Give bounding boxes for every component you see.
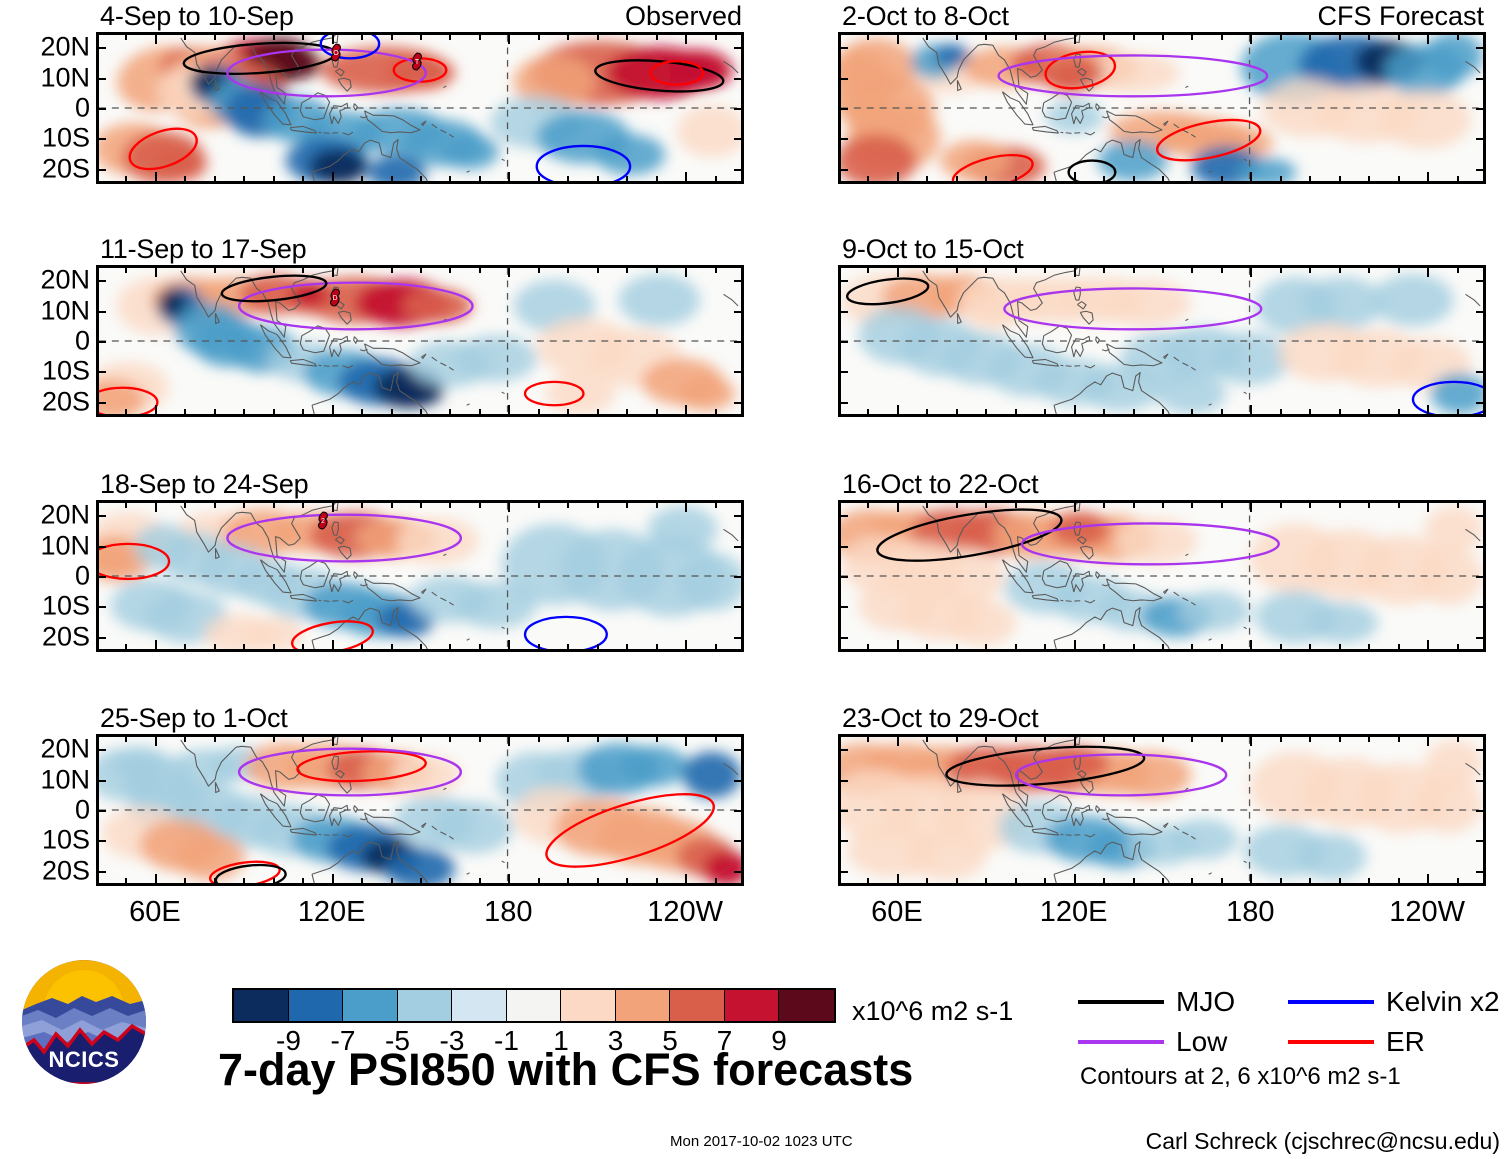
axis-tick bbox=[838, 311, 848, 313]
axis-tick bbox=[184, 734, 186, 742]
map-panel-6: 16-Oct to 22-Oct bbox=[838, 500, 1486, 652]
axis-tick bbox=[243, 644, 245, 652]
axis-tick bbox=[155, 405, 157, 417]
axis-tick bbox=[1427, 265, 1429, 277]
axis-tick bbox=[734, 108, 744, 110]
axis-tick bbox=[361, 644, 363, 652]
axis-tick bbox=[1191, 176, 1193, 184]
y-tick-label: 20S bbox=[42, 857, 90, 884]
legend-line-swatch bbox=[1078, 1040, 1164, 1044]
axis-tick bbox=[838, 606, 848, 608]
axis-tick bbox=[361, 32, 363, 40]
axis-tick bbox=[538, 644, 540, 652]
y-tick-label: 10N bbox=[40, 766, 90, 793]
axis-tick bbox=[479, 644, 481, 652]
axis-tick bbox=[449, 176, 451, 184]
axis-tick bbox=[597, 878, 599, 886]
axis-tick bbox=[597, 409, 599, 417]
axis-tick bbox=[1309, 878, 1311, 886]
axis-tick bbox=[838, 47, 848, 49]
axis-tick bbox=[838, 637, 848, 639]
axis-tick bbox=[1280, 878, 1282, 886]
axis-tick bbox=[926, 265, 928, 273]
axis-tick bbox=[897, 32, 899, 44]
axis-tick bbox=[1476, 871, 1486, 873]
axis-tick bbox=[479, 734, 481, 742]
axis-tick bbox=[243, 409, 245, 417]
axis-tick bbox=[1074, 734, 1076, 746]
y-tick-label: 10N bbox=[40, 64, 90, 91]
contour-legend-note: Contours at 2, 6 x10^6 m2 s-1 bbox=[1080, 1063, 1401, 1091]
axis-tick bbox=[1280, 500, 1282, 508]
colorbar-swatch bbox=[289, 990, 344, 1021]
axis-tick bbox=[838, 515, 848, 517]
axis-tick bbox=[1250, 640, 1252, 652]
axis-tick bbox=[715, 878, 717, 886]
axis-tick bbox=[214, 644, 216, 652]
axis-tick bbox=[685, 32, 687, 44]
colorbar-swatch bbox=[343, 990, 398, 1021]
axis-tick bbox=[1398, 878, 1400, 886]
axis-tick bbox=[626, 32, 628, 40]
colorbar-swatch bbox=[670, 990, 725, 1021]
axis-tick bbox=[125, 265, 127, 273]
axis-tick bbox=[391, 878, 393, 886]
axis-tick bbox=[1133, 644, 1135, 652]
colorbar-swatch bbox=[398, 990, 453, 1021]
axis-tick bbox=[1427, 172, 1429, 184]
axis-tick bbox=[1044, 644, 1046, 652]
axis-tick bbox=[1103, 176, 1105, 184]
axis-tick bbox=[567, 878, 569, 886]
axis-tick bbox=[1133, 176, 1135, 184]
axis-tick bbox=[1162, 409, 1164, 417]
axis-tick bbox=[1191, 500, 1193, 508]
axis-tick bbox=[1074, 172, 1076, 184]
axis-tick bbox=[96, 108, 106, 110]
axis-tick bbox=[1339, 644, 1341, 652]
axis-tick bbox=[1476, 637, 1486, 639]
axis-tick bbox=[734, 280, 744, 282]
y-tick-label: 10S bbox=[42, 827, 90, 854]
axis-tick bbox=[96, 311, 106, 313]
axis-tick bbox=[273, 265, 275, 273]
axis-tick bbox=[926, 644, 928, 652]
axis-tick bbox=[1250, 874, 1252, 886]
axis-tick bbox=[838, 108, 848, 110]
axis-tick bbox=[1457, 500, 1459, 508]
axis-tick bbox=[302, 500, 304, 508]
axis-tick bbox=[567, 644, 569, 652]
axis-tick bbox=[332, 172, 334, 184]
axis-tick bbox=[1309, 265, 1311, 273]
axis-tick bbox=[1221, 734, 1223, 742]
axis-tick bbox=[1044, 500, 1046, 508]
axis-tick bbox=[302, 409, 304, 417]
axis-tick bbox=[1015, 409, 1017, 417]
axis-tick bbox=[508, 500, 510, 512]
axis-tick bbox=[243, 176, 245, 184]
axis-tick bbox=[1191, 409, 1193, 417]
svg-text:2: 2 bbox=[321, 518, 325, 525]
axis-tick bbox=[96, 840, 106, 842]
axis-tick bbox=[449, 644, 451, 652]
axis-tick bbox=[214, 878, 216, 886]
axis-tick bbox=[508, 734, 510, 746]
axis-tick bbox=[926, 500, 928, 508]
axis-tick bbox=[897, 500, 899, 512]
axis-tick bbox=[838, 840, 848, 842]
axis-tick bbox=[96, 780, 106, 782]
axis-tick bbox=[1250, 32, 1252, 44]
legend-item-kelvin-x2: Kelvin x2 bbox=[1288, 987, 1498, 1017]
axis-tick bbox=[734, 810, 744, 812]
axis-tick bbox=[1133, 500, 1135, 508]
axis-tick bbox=[1191, 644, 1193, 652]
map-panel-3: 11-Sep to 17-SepD20N10N010S20S bbox=[96, 265, 744, 417]
axis-tick bbox=[956, 878, 958, 886]
axis-tick bbox=[1044, 265, 1046, 273]
contour-legend: MJOKelvin x2LowER bbox=[1078, 982, 1498, 1062]
axis-tick bbox=[567, 176, 569, 184]
axis-tick bbox=[1250, 734, 1252, 746]
axis-tick bbox=[1427, 640, 1429, 652]
axis-tick bbox=[125, 500, 127, 508]
axis-tick bbox=[420, 644, 422, 652]
axis-tick bbox=[1162, 265, 1164, 273]
axis-tick bbox=[1457, 878, 1459, 886]
tropical-cyclone-marker: O bbox=[328, 43, 344, 63]
axis-tick bbox=[273, 32, 275, 40]
svg-text:T: T bbox=[415, 59, 420, 66]
axis-tick bbox=[1368, 734, 1370, 742]
axis-tick bbox=[926, 409, 928, 417]
axis-tick bbox=[1457, 176, 1459, 184]
panel-title: 9-Oct to 15-Oct bbox=[842, 235, 1024, 263]
anomaly-shading bbox=[99, 743, 741, 883]
axis-tick bbox=[956, 500, 958, 508]
axis-tick bbox=[1476, 402, 1486, 404]
axis-tick bbox=[715, 32, 717, 40]
ncics-logo-graphic: NCICS bbox=[22, 960, 146, 1084]
axis-tick bbox=[867, 176, 869, 184]
axis-tick bbox=[1162, 176, 1164, 184]
axis-tick bbox=[838, 138, 848, 140]
axis-tick bbox=[420, 878, 422, 886]
axis-tick bbox=[715, 176, 717, 184]
axis-tick bbox=[626, 409, 628, 417]
legend-row: LowER bbox=[1078, 1022, 1498, 1062]
axis-tick bbox=[302, 878, 304, 886]
axis-tick bbox=[1427, 405, 1429, 417]
axis-tick bbox=[1339, 32, 1341, 40]
axis-tick bbox=[96, 546, 106, 548]
axis-tick bbox=[1250, 500, 1252, 512]
axis-tick bbox=[838, 402, 848, 404]
axis-tick bbox=[626, 734, 628, 742]
axis-tick bbox=[1044, 734, 1046, 742]
axis-tick bbox=[243, 878, 245, 886]
axis-tick bbox=[1074, 405, 1076, 417]
axis-tick bbox=[1044, 409, 1046, 417]
axis-tick bbox=[656, 265, 658, 273]
axis-tick bbox=[897, 640, 899, 652]
legend-line-swatch bbox=[1288, 1000, 1374, 1004]
map-area: D bbox=[96, 265, 744, 417]
axis-tick bbox=[985, 176, 987, 184]
axis-tick bbox=[273, 500, 275, 508]
axis-tick bbox=[734, 576, 744, 578]
axis-tick bbox=[1476, 515, 1486, 517]
axis-tick bbox=[214, 32, 216, 40]
axis-tick bbox=[420, 734, 422, 742]
axis-tick bbox=[332, 405, 334, 417]
axis-tick bbox=[926, 176, 928, 184]
axis-tick bbox=[715, 644, 717, 652]
y-tick-label: 0 bbox=[75, 328, 90, 355]
y-tick-label: 0 bbox=[75, 797, 90, 824]
axis-tick bbox=[734, 402, 744, 404]
axis-tick bbox=[838, 78, 848, 80]
axis-tick bbox=[897, 172, 899, 184]
axis-tick bbox=[734, 515, 744, 517]
axis-tick bbox=[1368, 32, 1370, 40]
axis-tick bbox=[214, 176, 216, 184]
map-panel-4: 9-Oct to 15-Oct bbox=[838, 265, 1486, 417]
ncics-logo: NCICS ncics.org/mjo bbox=[22, 960, 146, 1084]
axis-tick bbox=[1044, 32, 1046, 40]
axis-tick bbox=[214, 409, 216, 417]
axis-tick bbox=[838, 280, 848, 282]
axis-tick bbox=[656, 878, 658, 886]
axis-tick bbox=[155, 640, 157, 652]
axis-tick bbox=[214, 265, 216, 273]
axis-tick bbox=[656, 734, 658, 742]
axis-tick bbox=[332, 734, 334, 746]
axis-tick bbox=[1368, 878, 1370, 886]
axis-tick bbox=[567, 32, 569, 40]
colorbar-swatches bbox=[232, 988, 836, 1023]
axis-tick bbox=[243, 265, 245, 273]
axis-tick bbox=[125, 409, 127, 417]
axis-tick bbox=[273, 409, 275, 417]
axis-tick bbox=[715, 409, 717, 417]
axis-tick bbox=[897, 405, 899, 417]
axis-tick bbox=[1398, 734, 1400, 742]
colorbar-units-label: x10^6 m2 s-1 bbox=[852, 996, 1013, 1027]
axis-tick bbox=[1339, 500, 1341, 508]
axis-tick bbox=[734, 169, 744, 171]
axis-tick bbox=[1398, 32, 1400, 40]
axis-tick bbox=[926, 878, 928, 886]
axis-tick bbox=[1074, 640, 1076, 652]
tropical-cyclone-marker: D bbox=[327, 288, 343, 308]
map-panel-8: 23-Oct to 29-Oct60E120E180120W bbox=[838, 734, 1486, 886]
axis-tick bbox=[656, 176, 658, 184]
axis-tick bbox=[449, 265, 451, 273]
axis-tick bbox=[538, 500, 540, 508]
axis-tick bbox=[1191, 265, 1193, 273]
legend-item-mjo: MJO bbox=[1078, 987, 1288, 1017]
axis-tick bbox=[1309, 734, 1311, 742]
axis-tick bbox=[1103, 878, 1105, 886]
axis-tick bbox=[479, 409, 481, 417]
axis-tick bbox=[125, 32, 127, 40]
axis-tick bbox=[273, 734, 275, 742]
axis-tick bbox=[538, 409, 540, 417]
colorbar-swatch bbox=[561, 990, 616, 1021]
axis-tick bbox=[567, 409, 569, 417]
axis-tick bbox=[715, 265, 717, 273]
axis-tick bbox=[626, 644, 628, 652]
colorbar-swatch bbox=[725, 990, 780, 1021]
axis-tick bbox=[96, 810, 106, 812]
axis-tick bbox=[1191, 32, 1193, 40]
axis-tick bbox=[956, 176, 958, 184]
axis-tick bbox=[243, 734, 245, 742]
axis-tick bbox=[1476, 371, 1486, 373]
panel-title: 18-Sep to 24-Sep bbox=[100, 470, 308, 498]
y-axis-labels: 20N10N010S20S bbox=[0, 32, 90, 184]
axis-tick bbox=[838, 780, 848, 782]
axis-tick bbox=[273, 878, 275, 886]
colorbar-swatch bbox=[234, 990, 289, 1021]
axis-tick bbox=[838, 341, 848, 343]
axis-tick bbox=[391, 409, 393, 417]
axis-tick bbox=[867, 265, 869, 273]
axis-tick bbox=[1427, 734, 1429, 746]
axis-tick bbox=[734, 78, 744, 80]
y-tick-label: 0 bbox=[75, 95, 90, 122]
axis-tick bbox=[1221, 500, 1223, 508]
axis-tick bbox=[1476, 47, 1486, 49]
axis-tick bbox=[184, 500, 186, 508]
axis-tick bbox=[361, 409, 363, 417]
axis-tick bbox=[867, 500, 869, 508]
axis-tick bbox=[1398, 265, 1400, 273]
axis-tick bbox=[597, 32, 599, 40]
axis-tick bbox=[508, 405, 510, 417]
axis-tick bbox=[897, 874, 899, 886]
legend-item-low: Low bbox=[1078, 1027, 1288, 1057]
axis-tick bbox=[1309, 176, 1311, 184]
axis-tick bbox=[1476, 576, 1486, 578]
axis-tick bbox=[1427, 500, 1429, 512]
axis-tick bbox=[1476, 311, 1486, 313]
axis-tick bbox=[391, 644, 393, 652]
y-tick-label: 10S bbox=[42, 125, 90, 152]
axis-tick bbox=[1015, 265, 1017, 273]
axis-tick bbox=[626, 265, 628, 273]
axis-tick bbox=[1339, 878, 1341, 886]
axis-tick bbox=[1398, 176, 1400, 184]
legend-row: MJOKelvin x2 bbox=[1078, 982, 1498, 1022]
axis-tick bbox=[1074, 32, 1076, 44]
axis-tick bbox=[96, 169, 106, 171]
legend-line-swatch bbox=[1288, 1040, 1374, 1044]
axis-tick bbox=[1280, 265, 1282, 273]
axis-tick bbox=[96, 371, 106, 373]
axis-tick bbox=[302, 644, 304, 652]
y-tick-label: 0 bbox=[75, 563, 90, 590]
axis-tick bbox=[597, 265, 599, 273]
axis-tick bbox=[897, 734, 899, 746]
map-area: OT bbox=[96, 32, 744, 184]
axis-tick bbox=[391, 176, 393, 184]
axis-tick bbox=[1103, 734, 1105, 742]
axis-tick bbox=[96, 341, 106, 343]
axis-tick bbox=[926, 32, 928, 40]
axis-tick bbox=[1044, 176, 1046, 184]
axis-tick bbox=[479, 265, 481, 273]
axis-tick bbox=[96, 280, 106, 282]
axis-tick bbox=[567, 265, 569, 273]
axis-tick bbox=[838, 169, 848, 171]
axis-tick bbox=[1162, 734, 1164, 742]
axis-tick bbox=[449, 32, 451, 40]
axis-tick bbox=[1191, 734, 1193, 742]
y-tick-label: 20S bbox=[42, 388, 90, 415]
axis-tick bbox=[734, 780, 744, 782]
axis-tick bbox=[420, 32, 422, 40]
axis-tick bbox=[956, 644, 958, 652]
axis-tick bbox=[656, 644, 658, 652]
axis-tick bbox=[985, 734, 987, 742]
axis-tick bbox=[685, 405, 687, 417]
svg-text:O: O bbox=[333, 50, 339, 57]
axis-tick bbox=[656, 409, 658, 417]
y-tick-label: 20N bbox=[40, 502, 90, 529]
legend-label: Low bbox=[1176, 1027, 1227, 1057]
axis-tick bbox=[1339, 265, 1341, 273]
axis-tick bbox=[656, 500, 658, 508]
axis-tick bbox=[956, 734, 958, 742]
axis-tick bbox=[956, 409, 958, 417]
axis-tick bbox=[734, 749, 744, 751]
axis-tick bbox=[508, 32, 510, 44]
axis-tick bbox=[1133, 734, 1135, 742]
map-panel-5: 18-Sep to 24-Sep220N10N010S20S bbox=[96, 500, 744, 652]
axis-tick bbox=[96, 871, 106, 873]
axis-tick bbox=[1476, 810, 1486, 812]
axis-tick bbox=[734, 371, 744, 373]
y-axis-labels: 20N10N010S20S bbox=[0, 500, 90, 652]
axis-tick bbox=[1457, 644, 1459, 652]
axis-tick bbox=[96, 78, 106, 80]
axis-tick bbox=[1103, 265, 1105, 273]
axis-tick bbox=[184, 176, 186, 184]
axis-tick bbox=[302, 734, 304, 742]
panel-grid: 4-Sep to 10-SepObservedOT20N10N010S20S2-… bbox=[0, 0, 1510, 900]
axis-tick bbox=[449, 734, 451, 742]
tropical-cyclone-marker: T bbox=[409, 52, 425, 72]
axis-tick bbox=[1133, 409, 1135, 417]
axis-tick bbox=[1476, 546, 1486, 548]
axis-tick bbox=[1368, 409, 1370, 417]
axis-tick bbox=[361, 734, 363, 742]
axis-tick bbox=[508, 874, 510, 886]
axis-tick bbox=[734, 138, 744, 140]
axis-tick bbox=[125, 176, 127, 184]
map-area bbox=[96, 734, 744, 886]
axis-tick bbox=[1015, 644, 1017, 652]
axis-tick bbox=[1103, 644, 1105, 652]
axis-tick bbox=[479, 176, 481, 184]
axis-tick bbox=[1074, 874, 1076, 886]
axis-tick bbox=[685, 734, 687, 746]
axis-tick bbox=[361, 878, 363, 886]
axis-tick bbox=[538, 734, 540, 742]
